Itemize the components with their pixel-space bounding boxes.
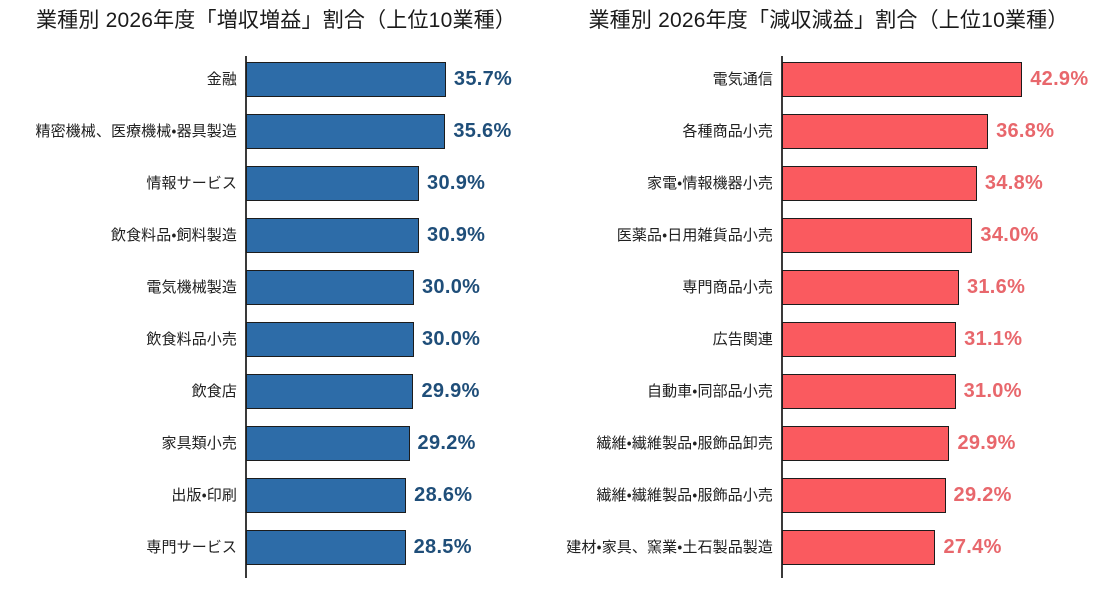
- category-label: 金融: [0, 62, 237, 97]
- category-label: 繊維・繊維製品・服飾品小売: [552, 478, 773, 513]
- bar: [782, 426, 949, 461]
- bar: [782, 270, 959, 305]
- bar: [782, 322, 956, 357]
- bar-row: 繊維・繊維製品・服飾品小売29.2%: [552, 478, 1105, 530]
- bar-value-label: 27.4%: [943, 530, 1001, 565]
- category-label: 各種商品小売: [552, 114, 773, 149]
- category-label: 広告関連: [552, 322, 773, 357]
- bar: [246, 478, 406, 513]
- bar: [246, 530, 406, 565]
- bar: [782, 478, 946, 513]
- category-label: 自動車・同部品小売: [552, 374, 773, 409]
- bar: [246, 218, 419, 253]
- chart-panel-decrease: 業種別 2026年度「減収減益」割合（上位10業種） 電気通信42.9%各種商品…: [552, 0, 1105, 593]
- bar-row: 医薬品・日用雑貨品小売34.0%: [552, 218, 1105, 270]
- bar: [782, 114, 988, 149]
- chart-title-decrease: 業種別 2026年度「減収減益」割合（上位10業種）: [552, 8, 1105, 34]
- category-label: 出版・印刷: [0, 478, 237, 513]
- bar-row: 電気通信42.9%: [552, 62, 1105, 114]
- bar-value-label: 30.0%: [422, 270, 480, 305]
- bar-row: 情報サービス30.9%: [0, 166, 552, 218]
- bar-row: 建材・家具、窯業・土石製品製造27.4%: [552, 530, 1105, 582]
- bar-value-label: 29.2%: [954, 478, 1012, 513]
- bar-value-label: 29.2%: [418, 426, 476, 461]
- bar-value-label: 35.6%: [453, 114, 511, 149]
- category-label: 飲食店: [0, 374, 237, 409]
- bar: [782, 62, 1022, 97]
- bar-row: 飲食店29.9%: [0, 374, 552, 426]
- bar-value-label: 30.0%: [422, 322, 480, 357]
- category-label: 繊維・繊維製品・服飾品卸売: [552, 426, 773, 461]
- chart-panel-increase: 業種別 2026年度「増収増益」割合（上位10業種） 金融35.7%精密機械、医…: [0, 0, 552, 593]
- bar-row: 家具類小売29.2%: [0, 426, 552, 478]
- category-label: 建材・家具、窯業・土石製品製造: [552, 530, 773, 565]
- bar-row: 金融35.7%: [0, 62, 552, 114]
- bar-row: 精密機械、医療機械・器具製造35.6%: [0, 114, 552, 166]
- category-label: 飲食料品・飼料製造: [0, 218, 237, 253]
- bar: [246, 62, 446, 97]
- bar: [246, 270, 414, 305]
- bar-value-label: 29.9%: [421, 374, 479, 409]
- bar-value-label: 30.9%: [427, 218, 485, 253]
- bar-row: 電気機械製造30.0%: [0, 270, 552, 322]
- bar-value-label: 36.8%: [996, 114, 1054, 149]
- category-label: 情報サービス: [0, 166, 237, 201]
- bar-value-label: 30.9%: [427, 166, 485, 201]
- bar-value-label: 42.9%: [1030, 62, 1088, 97]
- category-label: 精密機械、医療機械・器具製造: [0, 114, 237, 149]
- bar: [782, 530, 935, 565]
- bar-row: 各種商品小売36.8%: [552, 114, 1105, 166]
- category-label: 電気機械製造: [0, 270, 237, 305]
- bar-row: 繊維・繊維製品・服飾品卸売29.9%: [552, 426, 1105, 478]
- plot-area-increase: 金融35.7%精密機械、医療機械・器具製造35.6%情報サービス30.9%飲食料…: [0, 55, 552, 583]
- chart-title-increase: 業種別 2026年度「増収増益」割合（上位10業種）: [0, 8, 552, 34]
- bar-value-label: 29.9%: [957, 426, 1015, 461]
- bar-row: 出版・印刷28.6%: [0, 478, 552, 530]
- bar-row: 飲食料品小売30.0%: [0, 322, 552, 374]
- bar: [246, 426, 410, 461]
- bar: [246, 374, 413, 409]
- bar-value-label: 31.1%: [964, 322, 1022, 357]
- bar-row: 広告関連31.1%: [552, 322, 1105, 374]
- category-label: 医薬品・日用雑貨品小売: [552, 218, 773, 253]
- category-label: 専門サービス: [0, 530, 237, 565]
- category-label: 家電・情報機器小売: [552, 166, 773, 201]
- bar-row: 専門サービス28.5%: [0, 530, 552, 582]
- category-label: 専門商品小売: [552, 270, 773, 305]
- bar-row: 自動車・同部品小売31.0%: [552, 374, 1105, 426]
- bar: [246, 114, 445, 149]
- category-label: 電気通信: [552, 62, 773, 97]
- bar-row: 専門商品小売31.6%: [552, 270, 1105, 322]
- bar-row: 家電・情報機器小売34.8%: [552, 166, 1105, 218]
- bar: [782, 166, 977, 201]
- bar: [782, 374, 956, 409]
- bar-value-label: 31.0%: [964, 374, 1022, 409]
- bar-value-label: 35.7%: [454, 62, 512, 97]
- bar-value-label: 28.5%: [414, 530, 472, 565]
- bar-value-label: 28.6%: [414, 478, 472, 513]
- category-label: 家具類小売: [0, 426, 237, 461]
- bar-value-label: 34.8%: [985, 166, 1043, 201]
- dual-bar-chart-figure: 業種別 2026年度「増収増益」割合（上位10業種） 金融35.7%精密機械、医…: [0, 0, 1105, 593]
- bar: [246, 322, 414, 357]
- bar-value-label: 34.0%: [980, 218, 1038, 253]
- plot-area-decrease: 電気通信42.9%各種商品小売36.8%家電・情報機器小売34.8%医薬品・日用…: [552, 55, 1105, 583]
- bar: [246, 166, 419, 201]
- bar-value-label: 31.6%: [967, 270, 1025, 305]
- bar: [782, 218, 972, 253]
- category-label: 飲食料品小売: [0, 322, 237, 357]
- bar-row: 飲食料品・飼料製造30.9%: [0, 218, 552, 270]
